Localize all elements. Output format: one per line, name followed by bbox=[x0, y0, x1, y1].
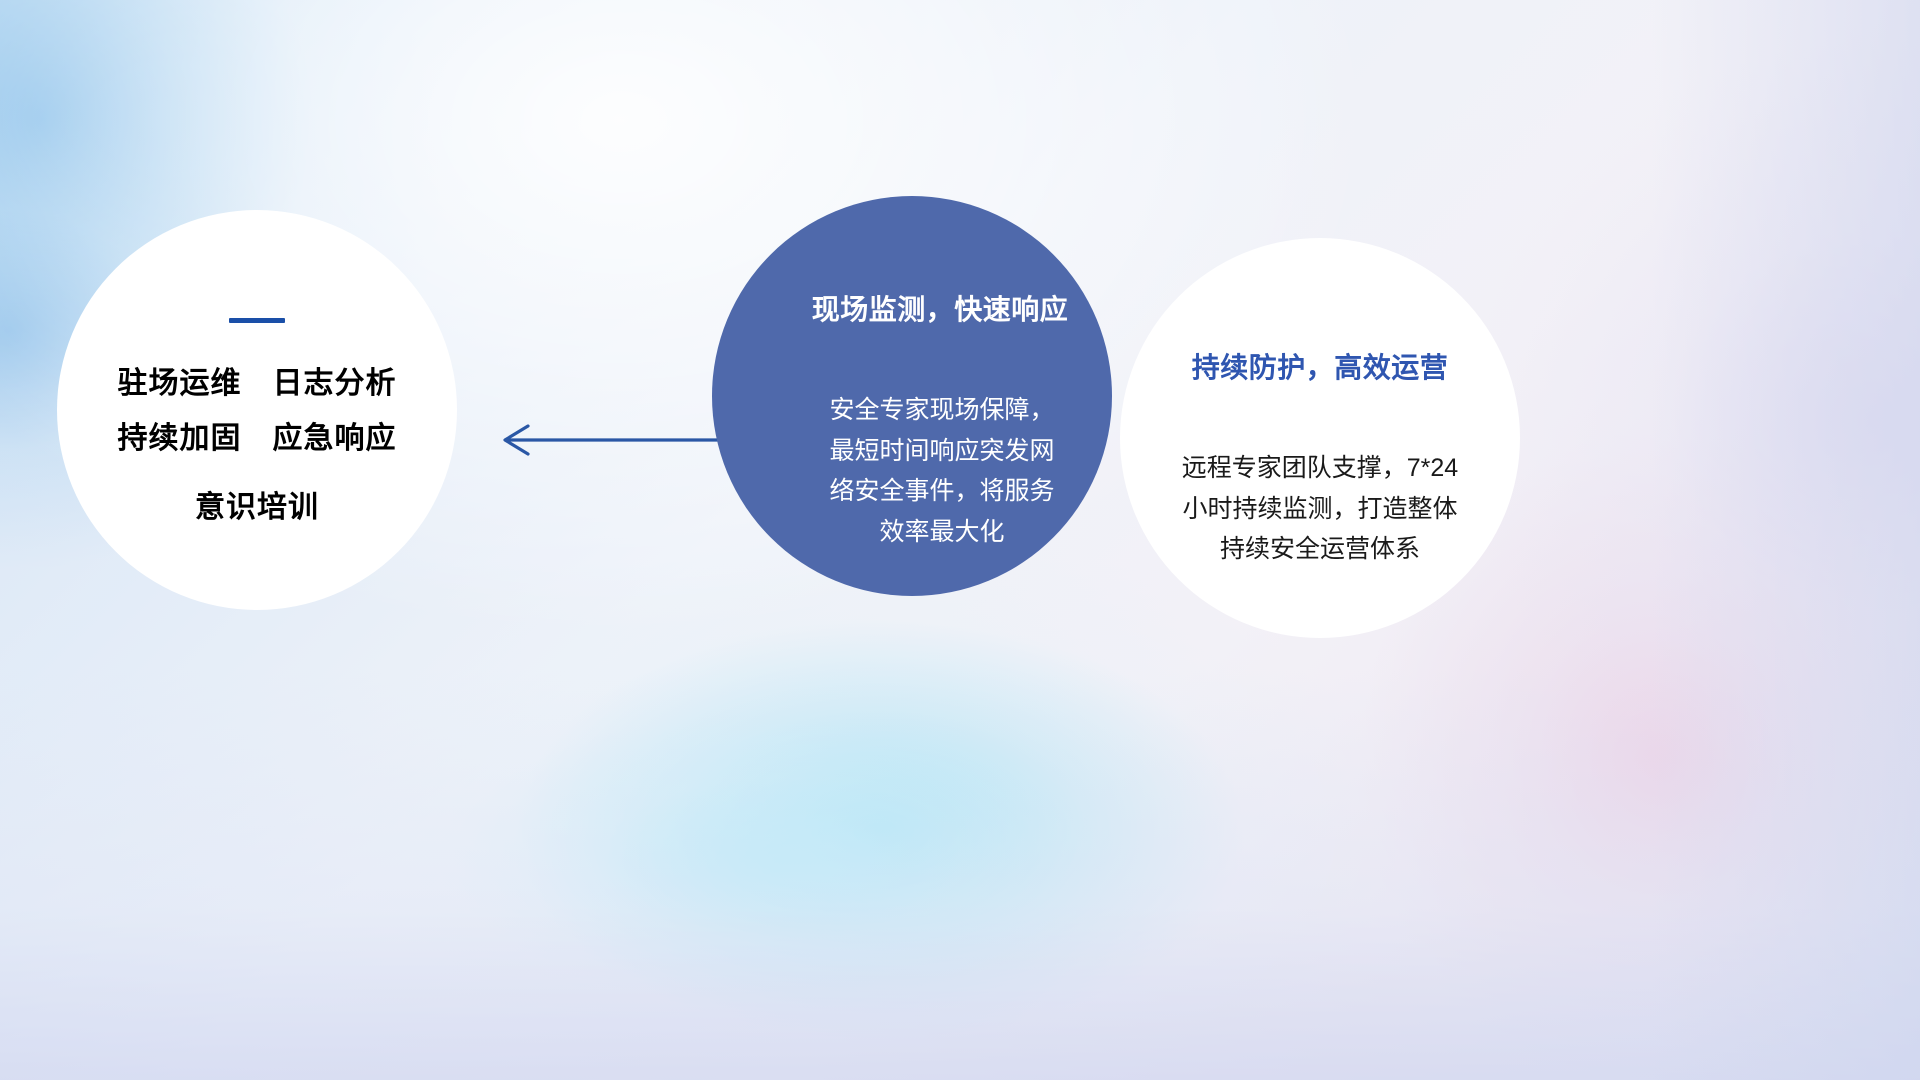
middle-circle-card[interactable]: 现场监测，快速响应 安全专家现场保障， 最短时间响应突发网 络安全事件，将服务 … bbox=[712, 196, 1112, 596]
right-circle-body-line-3: 持续安全运营体系 bbox=[1150, 529, 1490, 570]
right-circle-card[interactable]: 持续防护，高效运营 远程专家团队支撑，7*24 小时持续监测，打造整体 持续安全… bbox=[1120, 238, 1520, 638]
middle-circle-body-line-2: 最短时间响应突发网 bbox=[807, 431, 1077, 472]
left-circle-line-2: 持续加固 应急响应 bbox=[118, 422, 397, 455]
divider-dash-icon bbox=[229, 318, 285, 323]
middle-circle-body-line-1: 安全专家现场保障， bbox=[807, 390, 1077, 431]
left-circle-line-3: 意识培训 bbox=[195, 491, 319, 524]
middle-circle-body-line-3: 络安全事件，将服务 bbox=[807, 471, 1077, 512]
middle-circle-body: 安全专家现场保障， 最短时间响应突发网 络安全事件，将服务 效率最大化 bbox=[807, 390, 1077, 552]
right-circle-body-line-1: 远程专家团队支撑，7*24 bbox=[1150, 448, 1490, 489]
left-circle-line-1: 驻场运维 日志分析 bbox=[118, 367, 397, 400]
right-circle-title: 持续防护，高效运营 bbox=[1192, 346, 1449, 386]
right-circle-body: 远程专家团队支撑，7*24 小时持续监测，打造整体 持续安全运营体系 bbox=[1150, 448, 1490, 570]
right-circle-body-line-2: 小时持续监测，打造整体 bbox=[1150, 489, 1490, 530]
flow-arrow-left bbox=[490, 418, 720, 462]
middle-circle-title: 现场监测，快速响应 bbox=[812, 288, 1069, 328]
middle-circle-body-line-4: 效率最大化 bbox=[807, 512, 1077, 553]
left-circle-card[interactable]: 驻场运维 日志分析 持续加固 应急响应 意识培训 bbox=[57, 210, 457, 610]
left-circle-text-group: 驻场运维 日志分析 持续加固 应急响应 意识培训 bbox=[57, 367, 457, 524]
slide-canvas: 驻场运维 日志分析 持续加固 应急响应 意识培训 现场监测，快速响应 安全专家现… bbox=[0, 0, 1920, 1080]
